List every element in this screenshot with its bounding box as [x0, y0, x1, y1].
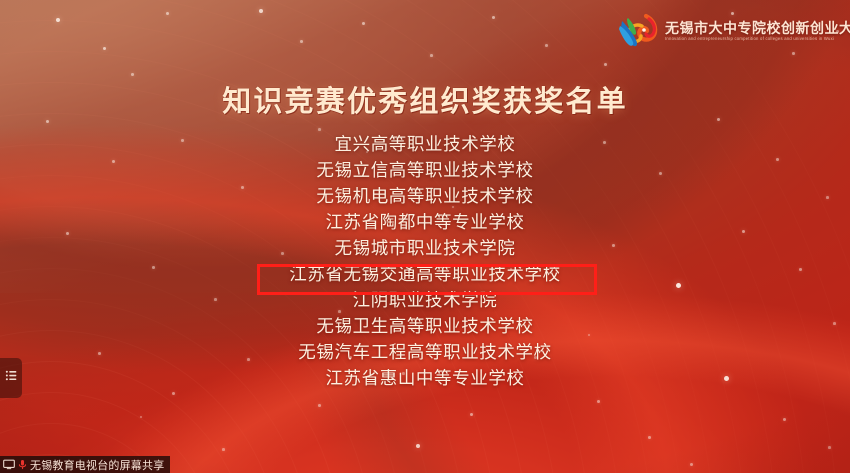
screen-share-label: 无锡教育电视台的屏幕共享 [30, 457, 164, 473]
logo-title-cn: 无锡市大中专院校创新创业大赛 [665, 21, 850, 36]
flame-bird-emblem-icon [616, 12, 660, 50]
awardee-row: 无锡机电高等职业技术学校 [316, 183, 533, 209]
slide-title: 知识竞赛优秀组织奖获奖名单 [0, 78, 850, 120]
awardee-row: 无锡城市职业技术学院 [335, 235, 516, 261]
awardee-row: 江苏省陶都中等专业学校 [325, 209, 524, 235]
awardee-row: 江阴职业技术学院 [353, 287, 498, 313]
monitor-icon [3, 459, 15, 470]
awardee-row: 宜兴高等职业技术学校 [335, 131, 516, 157]
awardee-row: 无锡立信高等职业技术学校 [316, 157, 533, 183]
screen-share-viewport: 无锡市大中专院校创新创业大赛 Innovation and entreprene… [0, 0, 850, 473]
awardee-row: 无锡汽车工程高等职业技术学校 [298, 339, 551, 365]
awardee-list: 宜兴高等职业技术学校无锡立信高等职业技术学校无锡机电高等职业技术学校江苏省陶都中… [0, 131, 850, 391]
competition-logo: 无锡市大中专院校创新创业大赛 Innovation and entreprene… [616, 12, 850, 50]
awardee-row: 无锡卫生高等职业技术学校 [316, 313, 533, 339]
awardee-row-highlighted: 江苏省无锡交通高等职业技术学校 [289, 261, 561, 287]
panel-toggle-tab[interactable] [0, 358, 22, 398]
screen-share-status-bar: 无锡教育电视台的屏幕共享 [0, 456, 170, 473]
awardee-row: 江苏省惠山中等专业学校 [325, 365, 524, 391]
logo-subtitle-en: Innovation and entrepreneurship competit… [665, 37, 850, 42]
list-menu-icon [5, 369, 18, 387]
microphone-icon [18, 459, 27, 470]
